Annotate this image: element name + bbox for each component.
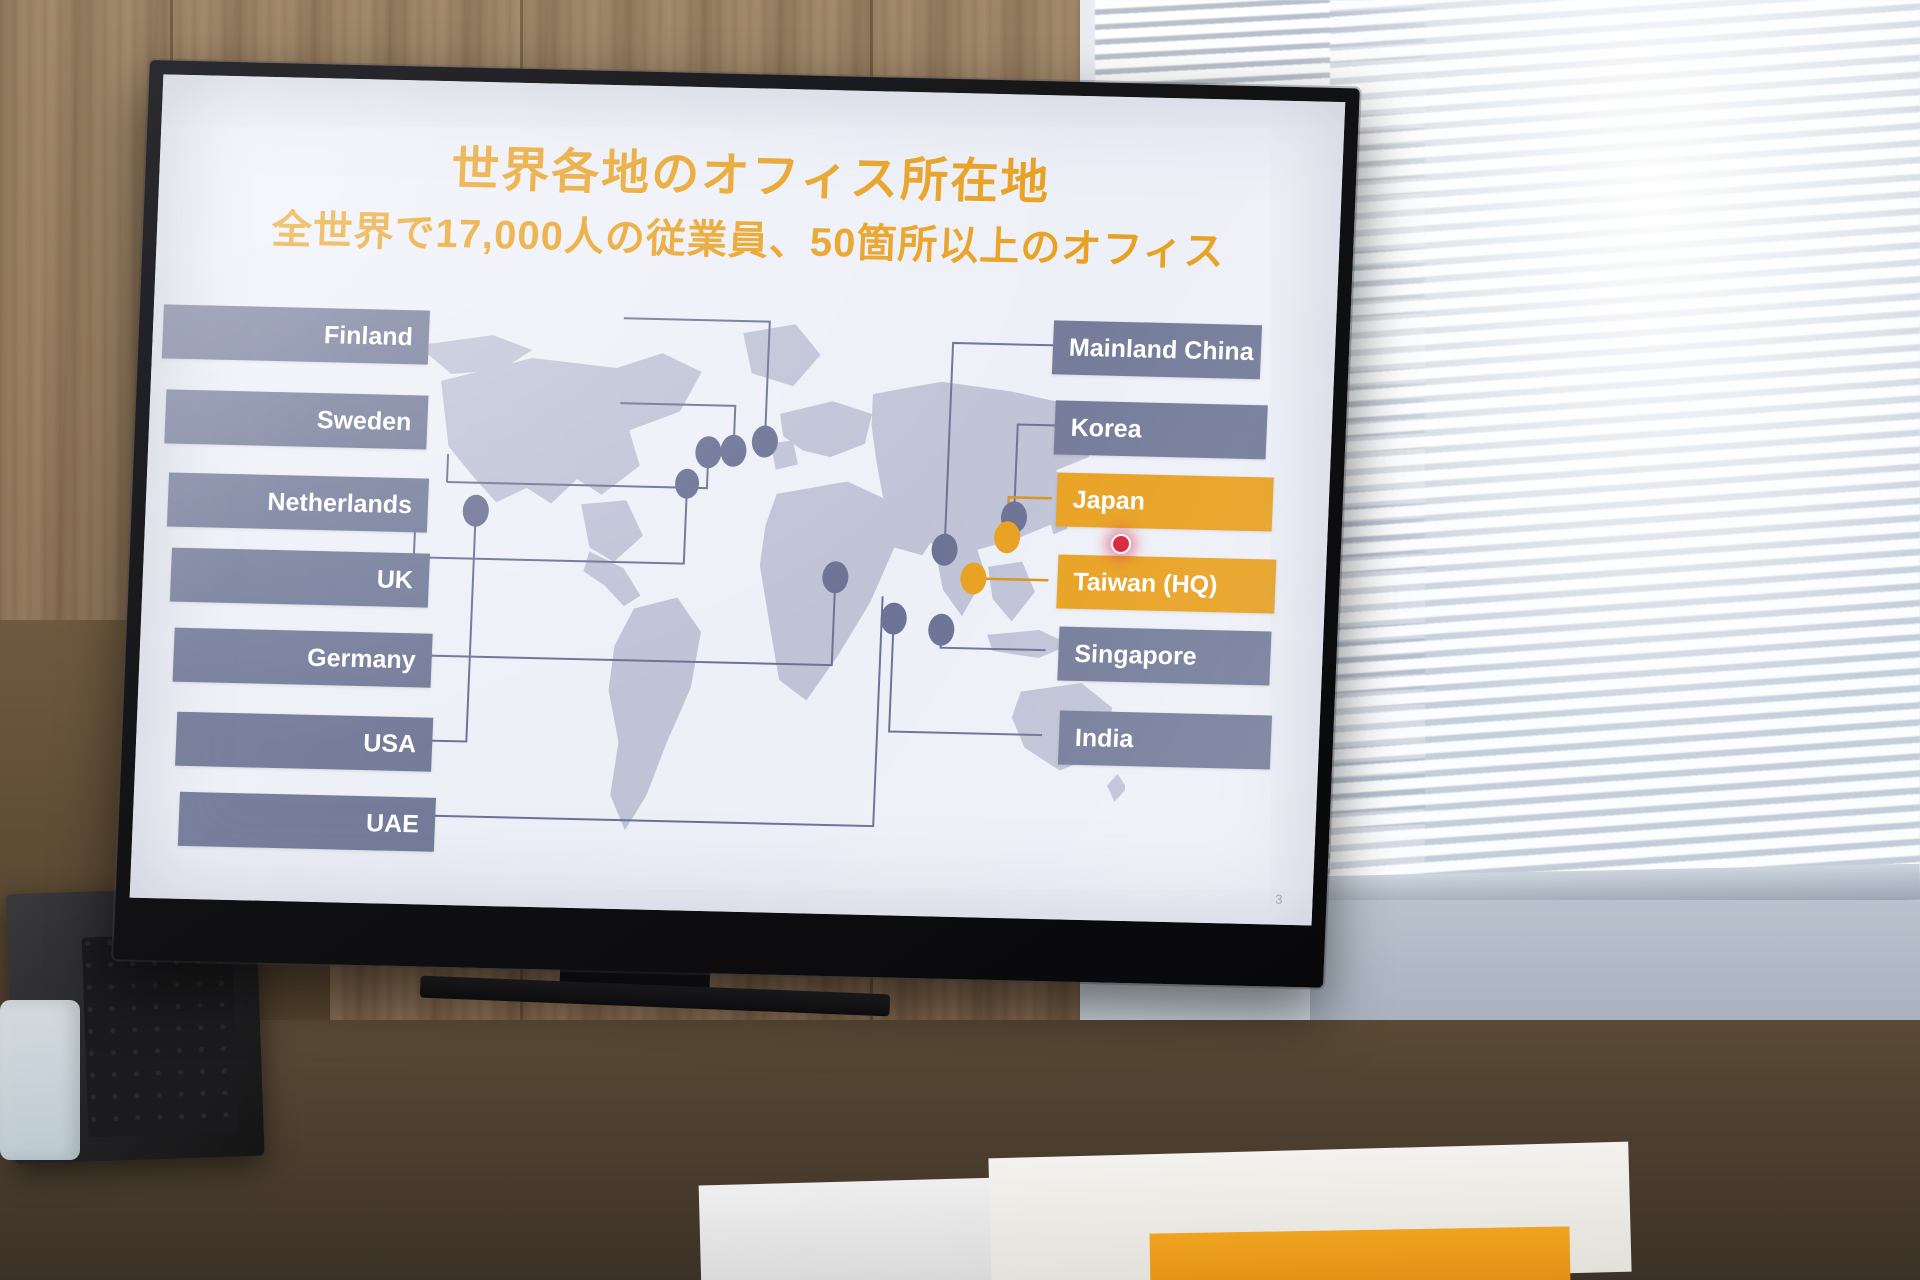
label-chip-germany[interactable]: Germany (173, 628, 433, 688)
chip-label: Sweden (316, 405, 412, 436)
chip-label: Netherlands (267, 487, 413, 519)
label-chip-india[interactable]: India (1058, 711, 1272, 770)
label-chip-sweden[interactable]: Sweden (164, 389, 428, 449)
chip-label: India (1074, 723, 1134, 753)
table-orange-band (1150, 1226, 1571, 1280)
chip-label: Finland (323, 321, 413, 352)
label-chip-korea[interactable]: Korea (1054, 400, 1268, 459)
chip-label: Mainland China (1068, 333, 1254, 366)
label-chip-singapore[interactable]: Singapore (1057, 627, 1271, 686)
speaker-grille (82, 932, 239, 1137)
jar-object (0, 1000, 80, 1160)
presentation-slide: 世界各地のオフィス所在地 全世界で17,000人の従業員、50箇所以上のオフィス (130, 74, 1346, 925)
label-chip-netherlands[interactable]: Netherlands (167, 473, 429, 533)
label-chip-taiwan-hq[interactable]: Taiwan (HQ) (1056, 554, 1276, 613)
label-chip-usa[interactable]: USA (175, 712, 433, 772)
label-chip-japan[interactable]: Japan (1056, 472, 1274, 531)
world-map-area: Finland Sweden Netherlands UK Germany US… (130, 279, 1336, 906)
chip-label: Germany (307, 643, 417, 675)
chip-label: Korea (1070, 413, 1142, 444)
label-chip-mainland-china[interactable]: Mainland China (1052, 320, 1262, 379)
label-chip-uae[interactable]: UAE (178, 792, 436, 852)
chip-label: USA (363, 729, 417, 759)
window-daylight-glow (1300, 0, 1920, 780)
chip-label: Singapore (1074, 639, 1197, 671)
label-chip-finland[interactable]: Finland (162, 304, 430, 364)
television: 世界各地のオフィス所在地 全世界で17,000人の従業員、50箇所以上のオフィス (113, 60, 1360, 988)
chip-label: Taiwan (HQ) (1073, 567, 1218, 599)
chip-label: Japan (1072, 485, 1145, 516)
chip-label: UK (376, 565, 413, 595)
label-chip-uk[interactable]: UK (170, 548, 430, 608)
slide-page-number: 3 (1275, 892, 1283, 907)
chip-label: UAE (365, 809, 419, 839)
tv-screen[interactable]: 世界各地のオフィス所在地 全世界で17,000人の従業員、50箇所以上のオフィス (130, 74, 1346, 925)
